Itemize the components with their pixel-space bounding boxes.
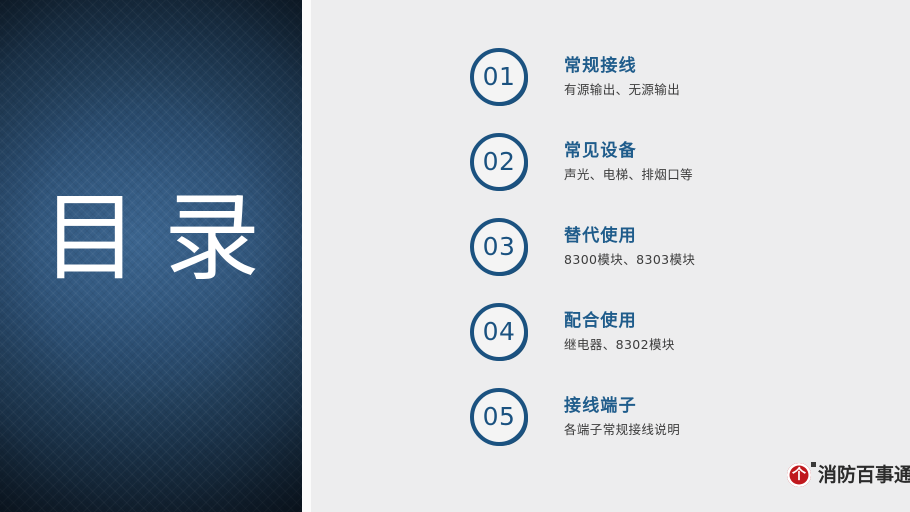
panel-divider bbox=[302, 0, 311, 512]
item-number-badge: 05 bbox=[470, 388, 528, 446]
table-of-contents: 01 常规接线 有源输出、无源输出 02 常见设备 声光、电梯、排烟口等 03 … bbox=[311, 0, 910, 512]
item-subtitle: 8300模块、8303模块 bbox=[564, 249, 695, 268]
item-subtitle: 继电器、8302模块 bbox=[564, 334, 675, 353]
item-number-badge: 01 bbox=[470, 48, 528, 106]
badge-number: 03 bbox=[470, 218, 528, 276]
badge-number: 01 bbox=[470, 48, 528, 106]
item-subtitle: 声光、电梯、排烟口等 bbox=[564, 164, 693, 183]
trademark-icon bbox=[811, 462, 816, 467]
page-title: 目录 bbox=[0, 186, 302, 290]
presentation-slide: 目录 01 常规接线 有源输出、无源输出 02 常见设备 声光、电梯、排烟口等 bbox=[0, 0, 910, 512]
left-title-panel: 目录 bbox=[0, 0, 302, 512]
item-subtitle: 各端子常规接线说明 bbox=[564, 419, 680, 438]
item-subtitle: 有源输出、无源输出 bbox=[564, 79, 680, 98]
brand-logo: 个 消防百事通 bbox=[787, 461, 899, 491]
list-item[interactable]: 05 接线端子 各端子常规接线说明 bbox=[470, 388, 900, 450]
brand-name: 消防百事通 bbox=[818, 464, 910, 487]
fire-safety-glyph-icon: 个 bbox=[787, 463, 811, 487]
item-title: 替代使用 bbox=[564, 221, 637, 246]
list-item[interactable]: 02 常见设备 声光、电梯、排烟口等 bbox=[470, 133, 900, 195]
list-item[interactable]: 03 替代使用 8300模块、8303模块 bbox=[470, 218, 900, 280]
list-item[interactable]: 01 常规接线 有源输出、无源输出 bbox=[470, 48, 900, 110]
item-title: 常见设备 bbox=[564, 136, 637, 161]
item-number-badge: 02 bbox=[470, 133, 528, 191]
item-title: 常规接线 bbox=[564, 51, 637, 76]
item-number-badge: 04 bbox=[470, 303, 528, 361]
item-number-badge: 03 bbox=[470, 218, 528, 276]
item-title: 接线端子 bbox=[564, 391, 637, 416]
item-title: 配合使用 bbox=[564, 306, 637, 331]
badge-number: 05 bbox=[470, 388, 528, 446]
badge-number: 04 bbox=[470, 303, 528, 361]
list-item[interactable]: 04 配合使用 继电器、8302模块 bbox=[470, 303, 900, 365]
badge-number: 02 bbox=[470, 133, 528, 191]
